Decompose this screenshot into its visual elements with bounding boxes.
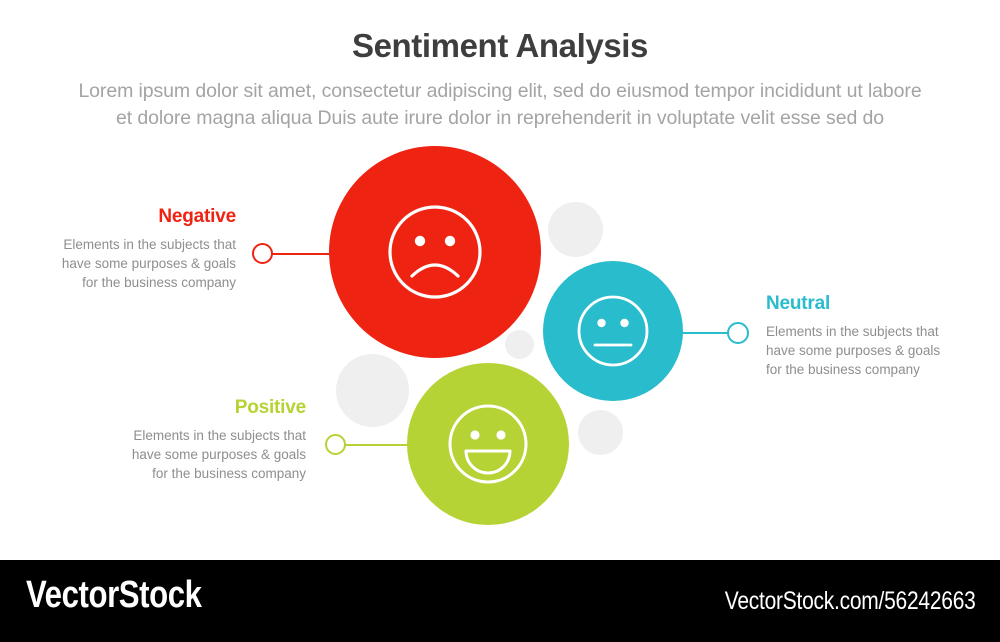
decorative-circle-bottom-right bbox=[578, 410, 623, 455]
negative-circle[interactable] bbox=[329, 146, 541, 358]
negative-label: Negative bbox=[30, 205, 236, 229]
neutral-text-block: Neutral Elements in the subjects that ha… bbox=[766, 292, 981, 379]
happy-face-icon bbox=[407, 363, 569, 525]
vectorstock-url: VectorStock.com/56242663 bbox=[725, 587, 976, 616]
negative-description: Elements in the subjects that have some … bbox=[30, 235, 236, 292]
neutral-label: Neutral bbox=[766, 292, 981, 316]
positive-text-block: Positive Elements in the subjects that h… bbox=[104, 396, 306, 483]
sad-face-icon bbox=[329, 146, 541, 358]
neutral-desc-line-1: Elements in the subjects that bbox=[766, 322, 981, 341]
neutral-desc-line-3: for the business company bbox=[766, 360, 981, 379]
positive-desc-line-1: Elements in the subjects that bbox=[104, 426, 306, 445]
neutral-desc-line-2: have some purposes & goals bbox=[766, 341, 981, 360]
decorative-circle-top-right bbox=[548, 202, 603, 257]
positive-desc-line-3: for the business company bbox=[104, 464, 306, 483]
positive-circle[interactable] bbox=[407, 363, 569, 525]
negative-connector-line bbox=[270, 253, 340, 255]
positive-description: Elements in the subjects that have some … bbox=[104, 426, 306, 483]
positive-desc-line-2: have some purposes & goals bbox=[104, 445, 306, 464]
neutral-connector-line bbox=[678, 332, 732, 334]
positive-label: Positive bbox=[104, 396, 306, 420]
positive-connector-marker[interactable] bbox=[325, 434, 346, 455]
positive-connector-line bbox=[343, 444, 417, 446]
decorative-circle-left bbox=[336, 354, 409, 427]
watermark-footer: VectorStock VectorStock.com/56242663 bbox=[0, 560, 1000, 642]
negative-desc-line-2: have some purposes & goals bbox=[30, 254, 236, 273]
negative-desc-line-1: Elements in the subjects that bbox=[30, 235, 236, 254]
neutral-connector-marker[interactable] bbox=[727, 322, 749, 344]
negative-connector-marker[interactable] bbox=[252, 243, 273, 264]
negative-desc-line-3: for the business company bbox=[30, 273, 236, 292]
vectorstock-logo: VectorStock bbox=[26, 574, 202, 617]
negative-text-block: Negative Elements in the subjects that h… bbox=[30, 205, 236, 292]
neutral-description: Elements in the subjects that have some … bbox=[766, 322, 981, 379]
infographic-slide: Sentiment Analysis Lorem ipsum dolor sit… bbox=[0, 0, 1000, 642]
